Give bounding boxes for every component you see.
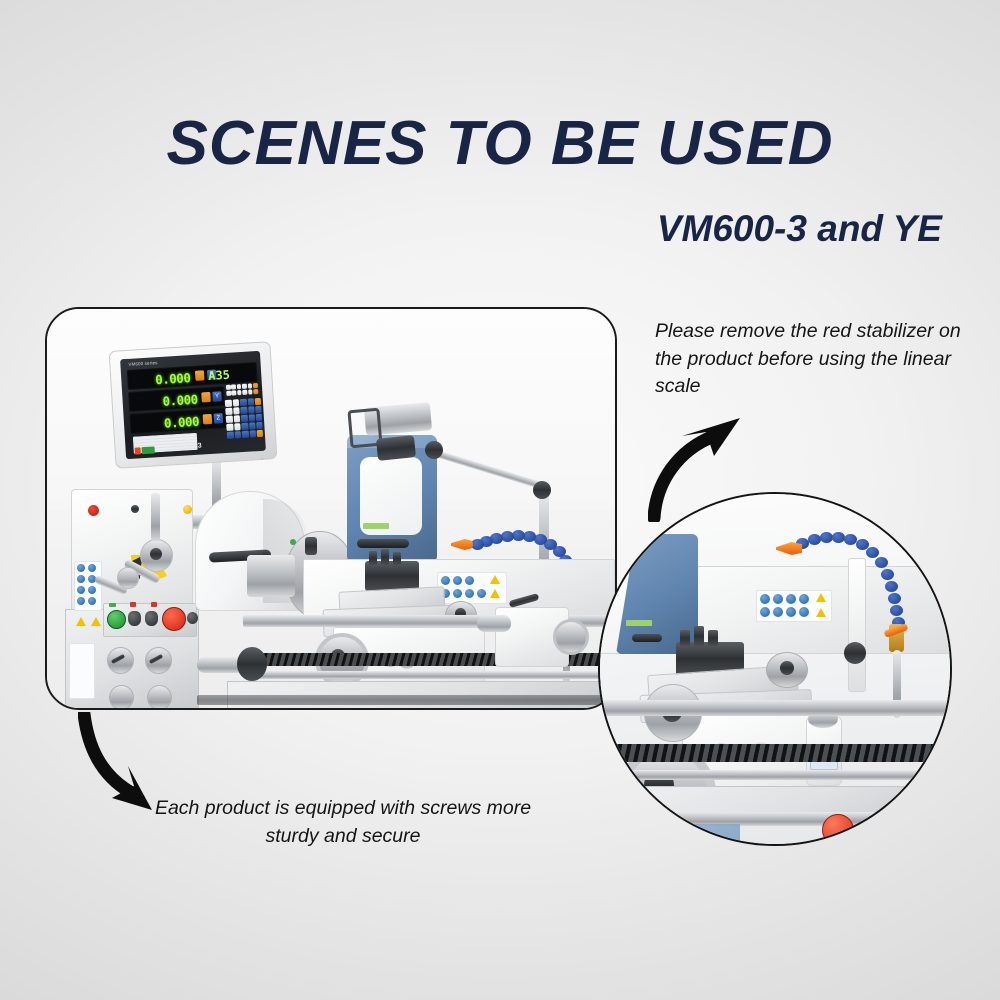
brand-logo-mark xyxy=(88,505,99,516)
dro-brand-badge xyxy=(134,446,154,455)
yellow-indicator-dot xyxy=(183,505,192,514)
sticker-icon-a5 xyxy=(453,589,462,598)
dro-function-keys[interactable] xyxy=(226,383,259,397)
dro-axis-tag-2: Y xyxy=(212,391,222,402)
dro-unit: VM600 series 0.000 X A35 0.000 Y xyxy=(109,341,278,469)
dro-top-brand-label: VM600 series xyxy=(128,360,158,367)
warning-triangle-icon-2 xyxy=(91,617,101,626)
sticker-icon-5 xyxy=(77,586,85,594)
indicator-lamp-red-1 xyxy=(130,602,136,607)
end-bearing xyxy=(237,647,267,681)
closeup-dial-center xyxy=(780,661,794,675)
dro-axis-tag-3: Z xyxy=(214,413,224,424)
closeup-sticker-icon-6 xyxy=(773,607,783,617)
sticker-icon-3 xyxy=(77,575,85,583)
dro-axis-value-1: 0.000 xyxy=(155,370,191,387)
chip-guard-label xyxy=(363,523,389,529)
chuck-jaw-1 xyxy=(305,537,317,555)
speed-selector-center xyxy=(150,548,162,560)
closeup-leadscrew xyxy=(600,744,950,762)
dro-axis-value-2: 0.000 xyxy=(162,392,198,409)
closeup-sticker-icon-4 xyxy=(799,594,809,604)
dro-faceplate: VM600 series 0.000 X A35 0.000 Y xyxy=(120,351,266,459)
sticker-icon-2 xyxy=(88,564,96,572)
feed-knob-3[interactable] xyxy=(109,685,134,710)
dro-axis-value-3: 0.000 xyxy=(163,414,199,431)
curved-arrow-down-right-icon xyxy=(78,712,188,820)
chip-tray-edge xyxy=(197,695,615,705)
annotation-remove-stabilizer: Please remove the red stabilizer on the … xyxy=(655,318,985,401)
warning-triangle-icon-1 xyxy=(76,617,86,626)
feed-rod xyxy=(243,671,615,679)
sticker-icon-a3 xyxy=(465,576,474,585)
selector-knob-2[interactable] xyxy=(145,611,158,626)
indicator-lamp-red-2 xyxy=(151,602,157,607)
arm-joint-upper[interactable] xyxy=(425,441,443,459)
feed-knob-4[interactable] xyxy=(147,685,172,710)
guard-pivot-block xyxy=(376,435,416,461)
emergency-stop-button[interactable] xyxy=(162,607,186,631)
sticker-icon-6 xyxy=(88,586,96,594)
dro-axis-indicator-3 xyxy=(203,414,213,425)
sticker-icon-8 xyxy=(88,597,96,605)
dro-axis-indicator-1 xyxy=(195,370,205,381)
closeup-feed-rod xyxy=(600,770,950,780)
sticker-icon-a1 xyxy=(441,576,450,585)
closeup-bed-way xyxy=(600,700,950,716)
closeup-sticker-icon-1 xyxy=(760,594,770,604)
sticker-icon-7 xyxy=(77,597,85,605)
lathe-scene: VM600 series 0.000 X A35 0.000 Y xyxy=(47,309,615,708)
closeup-sticker-icon-2 xyxy=(773,594,783,604)
dro-status-display: A35 xyxy=(208,368,231,383)
closeup-tool-bit-2 xyxy=(694,626,704,646)
closeup-sticker-icon-7 xyxy=(786,607,796,617)
closeup-guard-handle[interactable] xyxy=(632,634,662,642)
arm-joint-mid[interactable] xyxy=(533,481,551,499)
tailstock-quill xyxy=(477,615,511,632)
tool-post xyxy=(365,561,419,591)
page-title: SCENES TO BE USED xyxy=(0,108,1000,179)
selector-knob-1[interactable] xyxy=(128,611,141,626)
selector-knob-3[interactable] xyxy=(187,612,198,624)
sticker-icon-a6 xyxy=(465,589,474,598)
chip-guard-handle[interactable] xyxy=(357,539,409,548)
closeup-sticker-icon-3 xyxy=(786,594,796,604)
tool-bit-3 xyxy=(393,552,401,565)
warning-triangle-icon-a1 xyxy=(490,575,500,584)
upper-shaft xyxy=(151,493,160,541)
dro-model-label: VM600-3 xyxy=(171,443,202,452)
workpiece-stock xyxy=(247,555,295,597)
chuck-green-marker xyxy=(290,539,296,545)
tool-bit-1 xyxy=(369,551,377,565)
closeup-sticker-icon-5 xyxy=(760,607,770,617)
feed-lever-hub xyxy=(117,567,139,589)
shaft-cap xyxy=(131,505,139,513)
annotation-screws-included: Each product is equipped with screws mor… xyxy=(133,795,553,850)
dro-axis-display-3: 0.000 Z xyxy=(129,408,226,434)
indicator-lamp-green xyxy=(109,603,116,607)
red-stabilizer-stem xyxy=(832,836,841,846)
closeup-warning-triangle-1 xyxy=(816,593,826,602)
start-button[interactable] xyxy=(107,610,126,629)
closeup-tool-bit-3 xyxy=(708,630,718,646)
warning-triangle-icon-a2 xyxy=(490,589,500,598)
gear-chart-plate xyxy=(69,643,95,699)
sticker-icon-a2 xyxy=(453,576,462,585)
closeup-support-post xyxy=(848,558,866,692)
carriage-closeup-scene xyxy=(600,494,950,844)
closeup-detail-photo xyxy=(598,492,952,846)
sticker-icon-1 xyxy=(77,564,85,572)
dro-axis-indicator-2 xyxy=(201,392,211,403)
closeup-warning-triangle-2 xyxy=(816,608,826,617)
page-subtitle: VM600-3 and YE xyxy=(657,208,942,250)
closeup-guard-label xyxy=(626,620,652,626)
tool-bit-2 xyxy=(381,549,389,565)
closeup-arm-joint[interactable] xyxy=(844,642,866,664)
closeup-base-accent xyxy=(600,824,740,844)
closeup-tool-bit-1 xyxy=(680,630,690,646)
sticker-icon-a7 xyxy=(477,589,486,598)
tailstock-handwheel[interactable] xyxy=(553,619,589,655)
closeup-sticker-icon-8 xyxy=(799,607,809,617)
main-product-photo: VM600 series 0.000 X A35 0.000 Y xyxy=(45,307,617,710)
dro-numeric-keypad[interactable] xyxy=(225,398,264,448)
product-infographic: SCENES TO BE USED VM600-3 and YE Please … xyxy=(0,0,1000,1000)
